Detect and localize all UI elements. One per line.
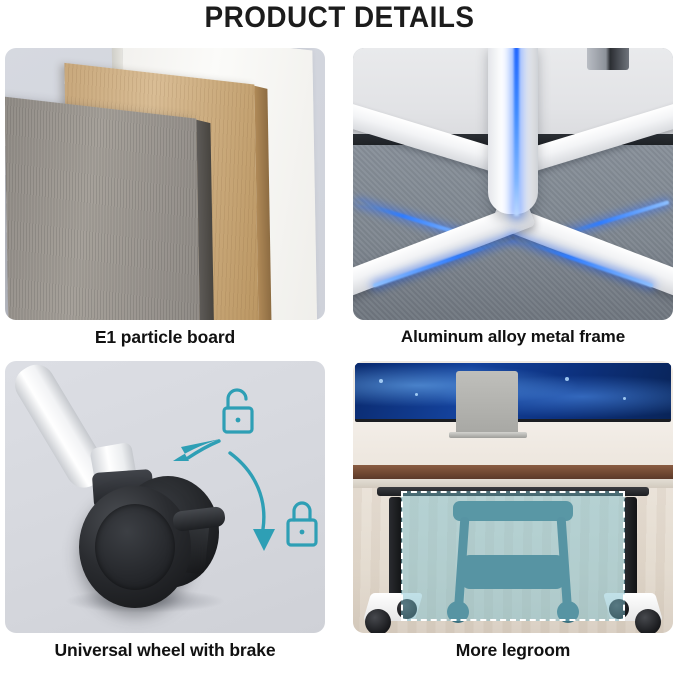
caption-universal-wheel: Universal wheel with brake	[5, 635, 325, 665]
product-details-page: PRODUCT DETAILS E1 particle board	[0, 0, 679, 673]
monitor-sparkle	[623, 397, 626, 400]
locked-icon	[288, 503, 316, 545]
detail-card-universal-wheel: Universal wheel with brake	[5, 361, 325, 669]
mount-bracket	[587, 48, 629, 70]
detail-card-more-legroom: More legroom	[353, 361, 673, 669]
particle-board-image	[5, 48, 325, 320]
more-legroom-image	[353, 361, 673, 633]
laptop-base	[449, 432, 527, 438]
monitor-sparkle	[565, 377, 569, 381]
arrowhead-down	[253, 529, 275, 551]
monitor-sparkle	[379, 379, 383, 383]
desk-leg-right	[624, 497, 637, 607]
desk-top-surface	[353, 465, 673, 479]
details-grid: E1 particle board Aluminum alloy metal	[5, 48, 674, 668]
monitor-sparkle	[415, 393, 418, 396]
gray-board	[5, 97, 202, 320]
caption-metal-frame: Aluminum alloy metal frame	[353, 322, 673, 352]
toggle-arrow-path	[230, 453, 264, 529]
desk-caster-front-left	[365, 609, 391, 633]
wheel-annotations	[5, 361, 325, 633]
page-title: PRODUCT DETAILS	[24, 0, 655, 40]
desk-caster-front-right	[635, 609, 661, 633]
caption-more-legroom: More legroom	[353, 635, 673, 665]
led-strip-column	[514, 48, 519, 216]
detail-card-metal-frame: Aluminum alloy metal frame	[353, 48, 673, 356]
unlocked-icon	[224, 390, 252, 432]
aluminum-column	[488, 48, 538, 214]
metal-frame-image	[353, 48, 673, 320]
laptop-screen	[456, 371, 518, 433]
detail-card-particle-board: E1 particle board	[5, 48, 325, 356]
universal-wheel-image	[5, 361, 325, 633]
caption-particle-board: E1 particle board	[5, 322, 325, 352]
legroom-highlight-area	[401, 491, 625, 621]
